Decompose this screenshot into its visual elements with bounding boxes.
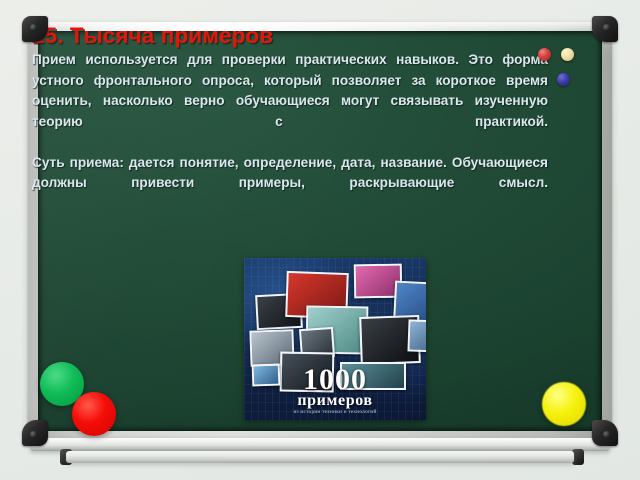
book-cover-word: примеров [244, 393, 426, 409]
magnet-red-small [538, 48, 551, 61]
tile-right-edge [407, 319, 426, 352]
chalk-tray-lower [66, 451, 574, 463]
book-cover-image: 1000 примеров из истории техники и техно… [244, 258, 426, 420]
slide-content: 25. Тысяча примеров Прием используется д… [32, 23, 548, 214]
book-cover-subtitle: из истории техники и технологий [244, 409, 426, 416]
chalk-tray-upper [30, 438, 610, 451]
book-cover-title: 1000 примеров из истории техники и техно… [244, 366, 426, 416]
magnet-yellow-large [542, 382, 586, 426]
magnet-cream-small [561, 48, 574, 61]
slide-scene: 25. Тысяча примеров Прием используется д… [0, 0, 640, 480]
magnet-blue-small [557, 73, 570, 86]
magnet-red-large [72, 392, 116, 436]
board-corner-bottom-left [22, 420, 48, 446]
slide-body: Прием используется для проверки практиче… [32, 50, 548, 214]
slide-paragraph-1: Прием используется для проверки практиче… [32, 50, 548, 153]
board-corner-top-right [592, 16, 618, 42]
slide-paragraph-2: Суть приема: дается понятие, определение… [32, 153, 548, 215]
board-corner-bottom-right [592, 420, 618, 446]
slide-title: 25. Тысяча примеров [32, 23, 548, 49]
book-cover-number: 1000 [244, 366, 426, 393]
